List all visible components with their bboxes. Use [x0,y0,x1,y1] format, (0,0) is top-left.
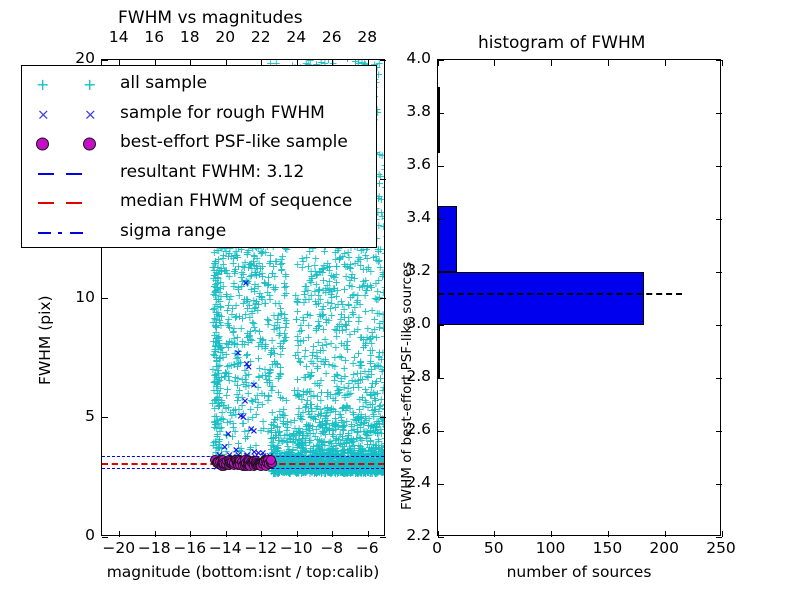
left-xaxis-label: magnitude (bottom:isnt / top:calib) [101,563,385,581]
x-tick-bottom [551,531,552,537]
legend-marker-filled-circle-marker [26,129,118,159]
legend-row: sigma range [22,218,376,248]
legend-row: median FHWM of sequence [22,188,376,218]
scatter-point-all: + [230,378,239,386]
y-tick-right [716,484,722,485]
legend-label: resultant FWHM: 3.12 [120,162,304,182]
right-yaxis-label: FWHM of best-effort PSF-like sources [399,262,415,510]
scatter-point-all: + [306,414,315,422]
plus-icon: + [36,77,49,93]
scatter-point-all: + [373,288,382,296]
x-tick-top [608,60,609,66]
scatter-point-all: + [228,305,237,313]
y-tick-right [716,219,722,220]
histogram-bar [438,272,644,325]
y-tick-right [716,272,722,273]
scatter-point-all: + [341,273,350,281]
scatter-point-all: + [368,307,377,315]
cross-icon: × [37,107,50,122]
scatter-point-all: + [238,263,247,271]
y-tick-left [438,113,444,114]
scatter-point-all: + [311,327,320,335]
scatter-point-all: + [338,327,347,335]
x-tick-label-bottom: −12 [242,539,280,557]
scatter-point-all: + [337,354,346,362]
y-tick-right [716,325,722,326]
scatter-point-all: + [320,248,329,256]
scatter-point-all: + [321,356,330,364]
scatter-point-all: + [355,469,364,477]
scatter-point-all: + [333,390,342,398]
legend-label: median FHWM of sequence [120,191,352,211]
x-tick-label-bottom: −14 [206,539,244,557]
x-tick-label-top: 26 [321,28,343,46]
scatter-point-all: + [320,405,329,413]
x-tick-label-bottom: −20 [100,539,138,557]
y-tick-right [716,166,722,167]
x-tick-label: 50 [476,539,512,557]
scatter-point-all: + [374,408,383,416]
scatter-point-all: + [280,292,289,300]
scatter-point-all: + [367,371,376,379]
x-tick-bottom [332,531,333,537]
x-tick-top [551,60,552,66]
y-tick-left [438,166,444,167]
histogram-data-area [438,60,720,535]
scatter-point-rough: × [224,431,232,439]
scatter-point-all: + [325,425,334,433]
filled-circle-icon [83,138,96,151]
scatter-point-all: + [337,469,346,477]
scatter-point-all: + [243,249,252,257]
y-tick-left [438,219,444,220]
scatter-point-all: + [238,315,247,323]
scatter-point-all: + [213,311,222,319]
scatter-point-all: + [212,363,221,371]
scatter-point-all: + [312,349,321,357]
scatter-point-all: + [298,444,307,452]
x-tick-top [438,60,439,66]
scatter-point-rough: × [241,398,249,406]
scatter-point-all: + [322,341,331,349]
histogram-bar [438,325,440,378]
y-tick-left [102,537,108,538]
y-tick-label: 0 [59,526,95,544]
legend-marker-cross-marker: ×× [26,100,118,130]
scatter-point-all: + [357,362,366,370]
x-tick-bottom [297,531,298,537]
scatter-point-all: + [296,413,305,421]
x-tick-label-top: 28 [356,28,378,46]
scatter-point-all: + [361,413,370,421]
dot-icon [58,232,62,234]
x-tick-label-top: 22 [250,28,272,46]
dash-icon [66,173,82,175]
scatter-point-all: + [256,335,265,343]
scatter-point-all: + [352,417,361,425]
scatter-point-all: + [213,271,222,279]
histogram-bar [438,87,440,153]
histogram-bar [438,206,457,272]
x-tick-bottom [494,531,495,537]
y-tick-label: 3.8 [393,102,431,120]
x-tick-label-bottom: −10 [277,539,315,557]
scatter-point-rough: × [242,280,250,288]
scatter-point-all: + [367,340,376,348]
legend-marker-plus-marker: ++ [26,70,118,100]
dash-icon [70,232,83,234]
y-tick-left [438,272,444,273]
scatter-point-all: + [268,337,277,345]
scatter-point-all: + [382,233,384,241]
scatter-point-all: + [267,435,276,443]
scatter-point-all: + [301,296,310,304]
scatter-point-all: + [380,333,384,341]
x-tick-label-top: 20 [214,28,236,46]
scatter-point-all: + [279,406,288,414]
scatter-point-all: + [258,401,267,409]
scatter-point-all: + [226,418,235,426]
scatter-point-all: + [293,391,302,399]
x-tick-label-top: 24 [285,28,307,46]
y-tick-left [438,60,444,61]
x-tick-label: 200 [646,539,682,557]
right-xaxis-label: number of sources [437,563,721,581]
scatter-point-all: + [302,363,311,371]
scatter-point-all: + [227,362,236,370]
scatter-point-all: + [263,282,272,290]
legend-marker-dash-dot-line [26,218,118,248]
dash-icon [66,202,82,204]
x-tick-bottom [368,531,369,537]
y-tick-left [438,537,444,538]
legend-label: best-effort PSF-like sample [120,132,348,152]
scatter-point-all: + [373,429,382,437]
hline-resultant-fwhm [438,293,682,295]
x-tick-top [722,60,723,66]
scatter-point-all: + [336,431,345,439]
left-plot-title: FWHM vs magnitudes [118,8,303,28]
y-tick-label: 5 [59,407,95,425]
legend-row: ××sample for rough FWHM [22,100,376,130]
scatter-point-all: + [379,384,384,392]
legend-label: sample for rough FWHM [120,103,325,123]
x-tick-bottom [665,531,666,537]
x-tick-bottom [226,531,227,537]
y-tick-left [438,484,444,485]
x-tick-bottom [190,531,191,537]
scatter-point-all: + [277,266,286,274]
scatter-point-all: + [282,317,291,325]
scatter-point-all: + [210,332,219,340]
scatter-point-all: + [364,264,373,272]
y-tick-left [438,431,444,432]
scatter-point-all: + [371,253,380,261]
scatter-point-all: + [213,421,222,429]
scatter-point-all: + [258,249,267,257]
scatter-point-all: + [370,316,379,324]
cross-icon: × [84,107,97,122]
plus-icon: + [83,77,96,93]
x-tick-bottom [608,531,609,537]
x-tick-label-top: 18 [179,28,201,46]
x-tick-label: 100 [533,539,569,557]
scatter-point-rough: × [250,428,258,436]
x-tick-top [665,60,666,66]
legend-label: sigma range [120,221,226,241]
right-plot-title: histogram of FWHM [478,33,645,53]
x-tick-label-bottom: −16 [171,539,209,557]
scatter-point-all: + [345,282,354,290]
scatter-point-all: + [209,387,218,395]
y-tick-right [380,417,386,418]
legend-row: resultant FWHM: 3.12 [22,159,376,189]
scatter-point-all: + [374,277,383,285]
scatter-point-all: + [302,389,311,397]
x-tick-bottom [119,531,120,537]
scatter-point-all: + [354,384,363,392]
scatter-point-all: + [379,311,384,319]
scatter-point-all: + [362,255,371,263]
scatter-point-all: + [375,349,384,357]
left-yaxis-label: FWHM (pix) [36,295,54,385]
filled-circle-icon [36,138,49,151]
scatter-point-all: + [339,306,348,314]
scatter-point-all: + [319,277,328,285]
scatter-point-all: + [264,321,273,329]
scatter-point-all: + [212,287,221,295]
x-tick-bottom [155,531,156,537]
y-tick-left [438,325,444,326]
scatter-point-all: + [297,327,306,335]
y-tick-right [380,298,386,299]
y-tick-left [102,60,108,61]
y-tick-left [438,378,444,379]
y-tick-label: 3.4 [393,208,431,226]
scatter-point-all: + [381,250,384,258]
y-tick-right [716,431,722,432]
y-tick-left [102,417,108,418]
scatter-point-all: + [292,316,301,324]
x-tick-label-bottom: −8 [313,539,351,557]
y-tick-right [380,537,386,538]
right-histogram-axes [437,59,721,536]
scatter-point-all: + [343,404,352,412]
scatter-point-all: + [270,350,279,358]
y-tick-right [716,378,722,379]
scatter-point-all: + [353,297,362,305]
scatter-point-all: + [326,305,335,313]
x-tick-label-bottom: −6 [348,539,386,557]
y-tick-left [102,298,108,299]
scatter-point-psf [266,455,276,465]
scatter-point-all: + [256,265,265,273]
x-tick-top [494,60,495,66]
legend-label: all sample [120,73,207,93]
x-tick-bottom [261,531,262,537]
y-tick-label: 10 [59,288,95,306]
scatter-point-rough: × [234,350,242,358]
x-tick-label: 250 [703,539,739,557]
y-tick-right [380,179,386,180]
y-tick-right [716,113,722,114]
scatter-point-rough: × [244,364,252,372]
legend-marker-dashed-line [26,159,118,189]
scatter-point-all: + [340,373,349,381]
scatter-point-rough: × [250,382,258,390]
scatter-point-all: + [216,349,225,357]
scatter-point-all: + [211,258,220,266]
scatter-point-all: + [274,373,283,381]
scatter-point-all: + [225,296,234,304]
scatter-point-all: + [211,438,220,446]
x-tick-label: 150 [589,539,625,557]
y-tick-label: 4.0 [393,49,431,67]
scatter-point-all: + [380,223,384,231]
y-tick-right [716,60,722,61]
x-tick-label-top: 16 [143,28,165,46]
scatter-point-all: + [243,330,252,338]
x-tick-label-top: 14 [108,28,130,46]
scatter-point-all: + [358,283,367,291]
scatter-point-all: + [366,391,375,399]
scatter-point-all: + [301,404,310,412]
scatter-point-all: + [323,451,332,459]
scatter-point-all: + [214,402,223,410]
scatter-point-all: + [257,294,266,302]
legend-box: ++all sample××sample for rough FWHMbest-… [21,65,377,248]
scatter-point-rough: × [239,414,247,422]
scatter-point-all: + [382,364,384,372]
scatter-point-all: + [276,432,285,440]
scatter-point-all: + [332,279,341,287]
scatter-point-all: + [276,394,285,402]
scatter-point-all: + [346,435,355,443]
figure-canvas: FWHM vs magnitudes 1416182022242628 −20−… [0,0,800,600]
dash-icon [38,173,54,175]
dash-icon [38,232,51,234]
scatter-point-all: + [299,258,308,266]
scatter-point-all: + [261,372,270,380]
y-tick-right [380,60,386,61]
scatter-point-all: + [230,252,239,260]
y-tick-label: 2.2 [393,526,431,544]
scatter-point-all: + [324,317,333,325]
scatter-point-all: + [311,268,320,276]
x-tick-label-bottom: −18 [135,539,173,557]
dash-icon [38,202,54,204]
scatter-point-all: + [248,398,257,406]
legend-row: best-effort PSF-like sample [22,129,376,159]
y-tick-label: 3.6 [393,155,431,173]
legend-row: ++all sample [22,70,376,100]
y-tick-right [716,537,722,538]
legend-marker-dashed-line [26,188,118,218]
scatter-point-all: + [340,250,349,258]
scatter-point-all: + [299,432,308,440]
